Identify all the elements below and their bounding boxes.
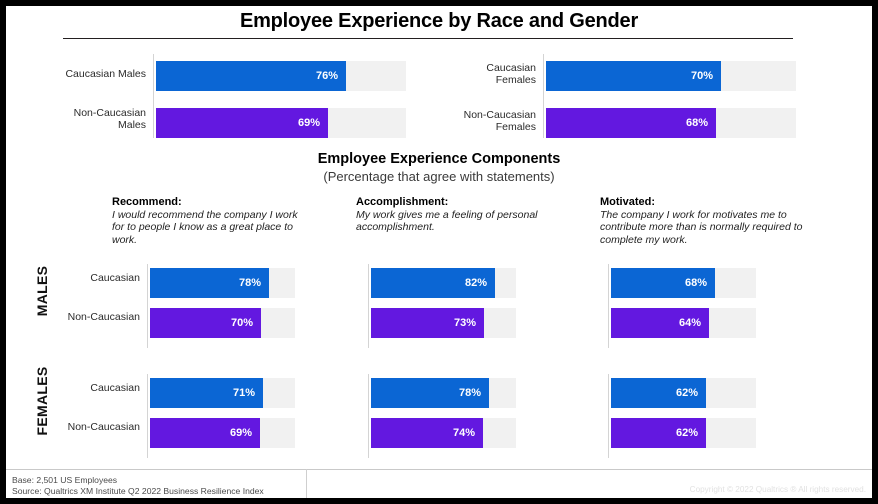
males-row1-label: Non-Caucasian [34,311,140,323]
males-recommend-axis-line [147,264,148,348]
components-heading: Employee Experience Components [6,151,872,167]
component-name-recommend: Recommend: [112,196,308,209]
females-recommend-row1-value: 69% [230,428,252,439]
females-motivated-axis-line [608,374,609,458]
females-motivated-row0-value: 62% [676,388,698,399]
top-right-row0-value: 70% [691,71,713,82]
males-recommend-row0-bar[interactable]: 78% [150,268,269,298]
top-left-row0-value: 76% [316,71,338,82]
footer-copyright: Copyright © 2022 Qualtrics ® All rights … [690,485,866,494]
males-motivated-axis-line [608,264,609,348]
top-right-row1-bar[interactable]: 68% [546,108,716,138]
males-recommend-row0-value: 78% [239,278,261,289]
slide-canvas: Employee Experience by Race and Gender C… [6,6,872,498]
footer-source-text: Source: Qualtrics XM Institute Q2 2022 B… [12,486,264,497]
component-desc-recommend: I would recommend the company I work for… [112,209,308,246]
top-right-row0-bar[interactable]: 70% [546,61,721,91]
component-header-recommend: Recommend: I would recommend the company… [112,196,308,246]
top-right-axis-line [543,54,544,138]
males-recommend-row1-bar[interactable]: 70% [150,308,261,338]
top-left-row0-bar[interactable]: 76% [156,61,346,91]
females-recommend-row0-value: 71% [233,388,255,399]
title-divider [63,38,793,39]
top-left-row0-label: Caucasian Males [26,68,146,80]
males-row0-label: Caucasian [44,272,140,284]
males-motivated-row1-bar[interactable]: 64% [611,308,709,338]
footer-vertical-divider [306,469,307,498]
component-header-accomplishment: Accomplishment: My work gives me a feeli… [356,196,552,234]
females-recommend-row0-bar[interactable]: 71% [150,378,263,408]
females-motivated-row0-bar[interactable]: 62% [611,378,706,408]
males-motivated-row1-value: 64% [679,318,701,329]
females-accomplishment-axis-line [368,374,369,458]
males-motivated-row0-bar[interactable]: 68% [611,268,715,298]
component-name-accomplishment: Accomplishment: [356,196,552,209]
females-accomplishment-row1-bar[interactable]: 74% [371,418,483,448]
males-motivated-row0-value: 68% [685,278,707,289]
component-name-motivated: Motivated: [600,196,810,209]
females-accomplishment-row1-value: 74% [453,428,475,439]
top-left-row1-bar[interactable]: 69% [156,108,328,138]
components-subheading: (Percentage that agree with statements) [6,169,872,184]
males-accomplishment-row1-value: 73% [454,318,476,329]
males-accomplishment-row0-value: 82% [465,278,487,289]
females-accomplishment-row0-bar[interactable]: 78% [371,378,489,408]
females-row1-label: Non-Caucasian [34,421,140,433]
footer-source-block: Base: 2,501 US Employees Source: Qualtri… [12,475,264,496]
footer-divider-line [6,469,872,470]
top-left-row1-value: 69% [298,118,320,129]
males-recommend-row1-value: 70% [231,318,253,329]
top-left-row1-label-line1: Non-Caucasian [26,107,146,119]
top-left-axis-line [153,54,154,138]
top-right-row1-label-line2: Females [416,121,536,133]
footer-base-text: Base: 2,501 US Employees [12,475,264,486]
page-title: Employee Experience by Race and Gender [6,10,872,33]
top-right-row1-label-line1: Non-Caucasian [416,109,536,121]
top-right-row0-label-line1: Caucasian [416,62,536,74]
females-recommend-axis-line [147,374,148,458]
component-desc-motivated: The company I work for motivates me to c… [600,209,810,246]
component-desc-accomplishment: My work gives me a feeling of personal a… [356,209,552,234]
top-left-row1-label-line2: Males [26,119,146,131]
females-motivated-row1-value: 62% [676,428,698,439]
top-right-row0-label-line2: Females [416,74,536,86]
females-motivated-row1-bar[interactable]: 62% [611,418,706,448]
top-right-row1-value: 68% [686,118,708,129]
males-accomplishment-row0-bar[interactable]: 82% [371,268,495,298]
females-recommend-row1-bar[interactable]: 69% [150,418,260,448]
females-row0-label: Caucasian [44,382,140,394]
component-header-motivated: Motivated: The company I work for motiva… [600,196,810,246]
males-accomplishment-axis-line [368,264,369,348]
females-accomplishment-row0-value: 78% [459,388,481,399]
males-accomplishment-row1-bar[interactable]: 73% [371,308,484,338]
